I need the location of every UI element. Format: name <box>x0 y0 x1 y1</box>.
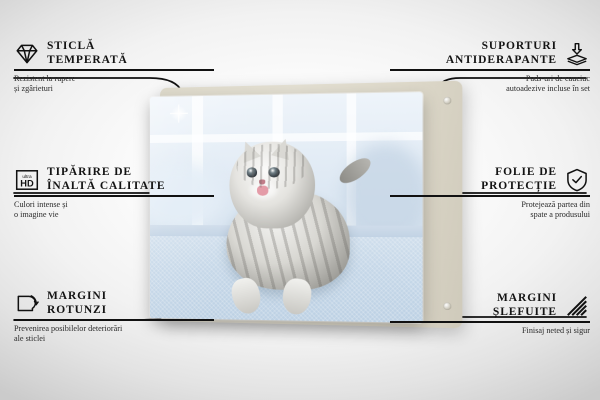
kitten-tongue <box>257 186 268 196</box>
feature-title-line1: FOLIE DE <box>495 166 557 180</box>
kitten-paw <box>280 277 313 317</box>
feature-title-line2: ROTUNZI <box>47 304 107 318</box>
kitten-ear <box>271 137 294 161</box>
feature-description: Protejează partea din spate a produsului <box>390 200 590 221</box>
kitten-ear <box>237 138 261 163</box>
feature-title-line1: SUPORTURI <box>482 40 557 54</box>
feature-description: Pads-uri de cauciuc autoadezive incluse … <box>390 74 590 95</box>
feature-polished-edges: MARGINI ȘLEFUITE Finisaj neted și sigur <box>390 292 590 336</box>
rounded-corner-icon <box>14 291 40 317</box>
shield-check-icon <box>564 167 590 193</box>
kitten-head <box>230 141 315 228</box>
kitten <box>208 130 366 313</box>
poster-canvas: STICLĂ TEMPERATĂ Rezistent la rupere și … <box>0 0 600 400</box>
kitten-eye <box>268 168 279 178</box>
feature-description: Finisaj neted și sigur <box>390 326 590 337</box>
feature-tempered-glass: STICLĂ TEMPERATĂ Rezistent la rupere și … <box>14 40 214 95</box>
ultra-hd-icon: ultra HD <box>14 167 40 193</box>
svg-text:HD: HD <box>20 178 34 188</box>
feature-title-line1: MARGINI <box>47 290 107 304</box>
feature-title-line2: PROTECȚIE <box>481 180 557 194</box>
rubber-pad-top-right <box>443 97 451 105</box>
hatched-edge-icon <box>564 293 590 319</box>
feature-divider <box>14 195 214 197</box>
feature-title-line2: ÎNALTĂ CALITATE <box>47 180 165 194</box>
feature-divider <box>390 69 590 71</box>
kitten-eye <box>246 168 257 178</box>
feature-rounded-edges: MARGINI ROTUNZI Prevenirea posibilelor d… <box>14 290 214 345</box>
feature-title-line1: STICLĂ <box>47 40 128 54</box>
stacked-pads-arrow-icon <box>564 41 590 67</box>
feature-divider <box>14 319 214 321</box>
feature-description: Prevenirea posibilelor deteriorări ale s… <box>14 324 214 345</box>
feature-high-quality-print: ultra HD TIPĂRIRE DE ÎNALTĂ CALITATE Cul… <box>14 166 214 221</box>
kitten-nose <box>259 180 265 184</box>
feature-protective-film: FOLIE DE PROTECȚIE Protejează partea din… <box>390 166 590 221</box>
feature-divider <box>14 69 214 71</box>
feature-description: Rezistent la rupere și zgârieturi <box>14 74 214 95</box>
feature-title-line2: TEMPERATĂ <box>47 54 128 68</box>
feature-title-line1: MARGINI <box>497 292 557 306</box>
feature-description: Culori intense și o imagine vie <box>14 200 214 221</box>
feature-divider <box>390 195 590 197</box>
feature-title-line2: ANTIDERAPANTE <box>446 54 557 68</box>
glass-sparkle-icon <box>171 105 187 121</box>
feature-anti-slip-supports: SUPORTURI ANTIDERAPANTE Pads-uri de cauc… <box>390 40 590 95</box>
feature-title-line1: TIPĂRIRE DE <box>47 166 165 180</box>
feature-title-line2: ȘLEFUITE <box>493 306 557 320</box>
diamond-icon <box>14 41 40 67</box>
feature-divider <box>390 321 590 323</box>
